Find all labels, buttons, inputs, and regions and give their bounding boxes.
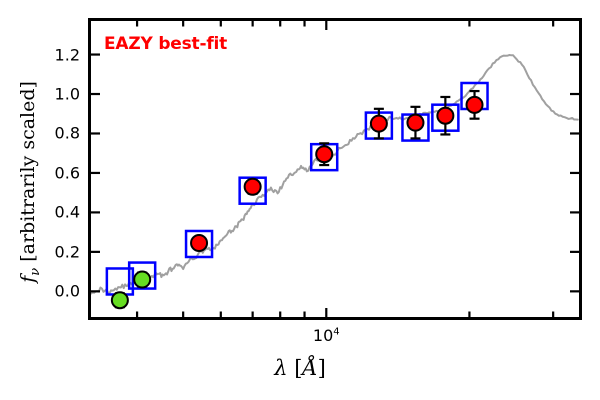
observed-photometry-point — [316, 146, 332, 162]
observed-photometry-point — [437, 108, 453, 124]
x-tick-label: 104 — [313, 326, 340, 345]
y-tick-label: 0.4 — [34, 203, 80, 222]
y-axis-label-nu: ν — [28, 268, 43, 276]
x-axis-unit-close: ] — [318, 356, 326, 380]
model-photometry-squares — [107, 83, 488, 294]
lowsig-photometry-point — [134, 272, 150, 288]
observed-photometry-point — [467, 97, 483, 113]
observed-photometry-point — [371, 116, 387, 132]
lowsig-photometry-point — [112, 292, 128, 308]
data-canvas — [91, 21, 579, 317]
photometry-error-bars — [115, 91, 480, 307]
y-tick-label: 0.6 — [34, 163, 80, 182]
x-axis-label: λ [Å] — [0, 356, 600, 380]
observed-photometry-point — [407, 115, 423, 131]
observed-photometry-point — [245, 179, 261, 195]
x-axis-unit-angstrom: Å — [302, 356, 317, 380]
y-tick-label: 0.8 — [34, 124, 80, 143]
y-tick-label: 1.0 — [34, 85, 80, 104]
sed-plot-figure: EAZY best-fit fν [arbitrarily scaled] λ … — [0, 0, 600, 400]
y-tick-label: 0.0 — [34, 282, 80, 301]
y-tick-label: 0.2 — [34, 242, 80, 261]
data-layer — [91, 21, 579, 317]
template-spectrum-line — [91, 55, 578, 294]
plot-axes-frame — [88, 18, 582, 320]
y-tick-label: 1.2 — [34, 45, 80, 64]
x-axis-label-lambda: λ — [274, 356, 287, 380]
observed-photometry-point — [191, 235, 207, 251]
